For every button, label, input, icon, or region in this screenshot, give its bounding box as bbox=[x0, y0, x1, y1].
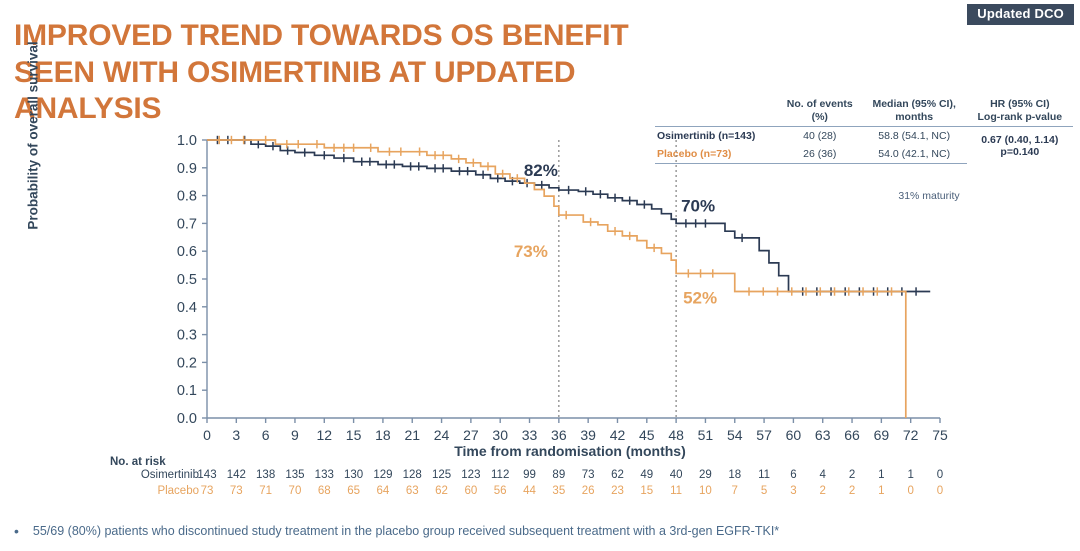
risk-value: 1 bbox=[898, 469, 924, 481]
risk-value: 15 bbox=[634, 485, 660, 497]
risk-value: 112 bbox=[487, 469, 513, 481]
risk-value: 11 bbox=[751, 469, 777, 481]
x-tick-label: 69 bbox=[874, 427, 890, 443]
risk-value: 64 bbox=[370, 485, 396, 497]
risk-value: 1 bbox=[868, 469, 894, 481]
x-tick-label: 48 bbox=[668, 427, 684, 443]
stats-header-events-line1: No. of events bbox=[780, 98, 860, 111]
risk-value: 35 bbox=[546, 485, 572, 497]
risk-value: 2 bbox=[839, 469, 865, 481]
y-tick-label: 0.5 bbox=[177, 272, 197, 288]
chart-annotation: 73% bbox=[514, 242, 548, 261]
risk-value: 73 bbox=[223, 485, 249, 497]
risk-table-title: No. at risk bbox=[110, 456, 166, 468]
x-tick-label: 24 bbox=[434, 427, 450, 443]
risk-value: 128 bbox=[399, 469, 425, 481]
risk-value: 7 bbox=[722, 485, 748, 497]
y-tick-label: 0.0 bbox=[177, 411, 197, 427]
y-tick-label: 0.7 bbox=[177, 216, 197, 232]
chart-annotation: 82% bbox=[524, 161, 558, 180]
risk-value: 143 bbox=[194, 469, 220, 481]
x-tick-label: 75 bbox=[932, 427, 948, 443]
footnote: • 55/69 (80%) patients who discontinued … bbox=[10, 524, 1070, 539]
x-tick-label: 72 bbox=[903, 427, 919, 443]
footnote-text: 55/69 (80%) patients who discontinued st… bbox=[33, 524, 779, 539]
x-tick-label: 3 bbox=[232, 427, 240, 443]
risk-value: 23 bbox=[604, 485, 630, 497]
chart-svg: 0.00.10.20.30.40.50.60.70.80.91.00369121… bbox=[0, 118, 1000, 458]
y-tick-label: 0.6 bbox=[177, 244, 197, 260]
risk-value: 40 bbox=[663, 469, 689, 481]
risk-value: 5 bbox=[751, 485, 777, 497]
updated-dco-badge: Updated DCO bbox=[967, 4, 1074, 25]
x-tick-label: 33 bbox=[522, 427, 538, 443]
risk-row-osimertinib: Osimertinib14314213813513313012912812512… bbox=[90, 469, 970, 484]
x-tick-label: 0 bbox=[203, 427, 211, 443]
risk-value: 44 bbox=[517, 485, 543, 497]
x-tick-label: 6 bbox=[262, 427, 270, 443]
x-tick-label: 27 bbox=[463, 427, 479, 443]
risk-value: 1 bbox=[868, 485, 894, 497]
x-tick-label: 54 bbox=[727, 427, 743, 443]
risk-value: 2 bbox=[810, 485, 836, 497]
risk-row-label: Placebo bbox=[157, 485, 199, 497]
series-line-placebo bbox=[207, 140, 906, 418]
risk-value: 135 bbox=[282, 469, 308, 481]
risk-value: 73 bbox=[575, 469, 601, 481]
risk-value: 130 bbox=[341, 469, 367, 481]
risk-value: 56 bbox=[487, 485, 513, 497]
x-axis-title: Time from randomisation (months) bbox=[190, 443, 950, 459]
risk-value: 71 bbox=[253, 485, 279, 497]
risk-value: 123 bbox=[458, 469, 484, 481]
risk-value: 0 bbox=[898, 485, 924, 497]
y-axis-title: Probability of overall survival bbox=[26, 11, 41, 261]
page-title: IMPROVED TREND TOWARDS OS BENEFIT SEEN W… bbox=[14, 18, 714, 128]
x-tick-label: 18 bbox=[375, 427, 391, 443]
risk-value: 29 bbox=[692, 469, 718, 481]
risk-value: 10 bbox=[692, 485, 718, 497]
y-tick-label: 0.3 bbox=[177, 328, 197, 344]
x-tick-label: 66 bbox=[844, 427, 860, 443]
y-tick-label: 0.2 bbox=[177, 355, 197, 371]
y-tick-label: 0.9 bbox=[177, 161, 197, 177]
risk-value: 0 bbox=[927, 469, 953, 481]
risk-value: 0 bbox=[927, 485, 953, 497]
x-tick-label: 42 bbox=[610, 427, 626, 443]
x-tick-label: 63 bbox=[815, 427, 831, 443]
x-tick-label: 45 bbox=[639, 427, 655, 443]
risk-row-label: Osimertinib bbox=[141, 469, 199, 481]
risk-value: 11 bbox=[663, 485, 689, 497]
x-tick-label: 51 bbox=[698, 427, 714, 443]
risk-value: 60 bbox=[458, 485, 484, 497]
y-tick-label: 0.4 bbox=[177, 300, 197, 316]
risk-value: 129 bbox=[370, 469, 396, 481]
risk-value: 125 bbox=[429, 469, 455, 481]
risk-value: 142 bbox=[223, 469, 249, 481]
risk-value: 6 bbox=[780, 469, 806, 481]
bullet-icon: • bbox=[14, 524, 19, 538]
risk-value: 49 bbox=[634, 469, 660, 481]
x-tick-label: 30 bbox=[492, 427, 508, 443]
x-tick-label: 15 bbox=[346, 427, 362, 443]
x-tick-label: 60 bbox=[786, 427, 802, 443]
risk-value: 68 bbox=[311, 485, 337, 497]
risk-row-placebo: Placebo737371706865646362605644352623151… bbox=[90, 485, 970, 500]
risk-value: 62 bbox=[604, 469, 630, 481]
risk-value: 63 bbox=[399, 485, 425, 497]
x-tick-label: 21 bbox=[404, 427, 420, 443]
stats-header-median-line1: Median (95% CI), bbox=[864, 98, 965, 111]
x-tick-label: 12 bbox=[316, 427, 332, 443]
risk-value: 26 bbox=[575, 485, 601, 497]
chart-annotation: 70% bbox=[681, 196, 715, 215]
risk-value: 62 bbox=[429, 485, 455, 497]
chart-annotation: 52% bbox=[683, 288, 717, 307]
stats-header-hr-line1: HR (95% CI) bbox=[969, 98, 1071, 111]
kaplan-meier-chart: 0.00.10.20.30.40.50.60.70.80.91.00369121… bbox=[0, 118, 1000, 458]
risk-value: 4 bbox=[810, 469, 836, 481]
risk-value: 99 bbox=[517, 469, 543, 481]
risk-value: 89 bbox=[546, 469, 572, 481]
risk-value: 70 bbox=[282, 485, 308, 497]
y-tick-label: 0.1 bbox=[177, 383, 197, 399]
risk-value: 3 bbox=[780, 485, 806, 497]
x-tick-label: 57 bbox=[756, 427, 772, 443]
risk-value: 2 bbox=[839, 485, 865, 497]
dco-badge-label: Updated DCO bbox=[977, 6, 1064, 21]
y-tick-label: 0.8 bbox=[177, 189, 197, 205]
x-tick-label: 39 bbox=[580, 427, 596, 443]
risk-value: 73 bbox=[194, 485, 220, 497]
risk-value: 18 bbox=[722, 469, 748, 481]
risk-value: 65 bbox=[341, 485, 367, 497]
x-tick-label: 36 bbox=[551, 427, 567, 443]
x-tick-label: 9 bbox=[291, 427, 299, 443]
risk-value: 133 bbox=[311, 469, 337, 481]
risk-value: 138 bbox=[253, 469, 279, 481]
y-tick-label: 1.0 bbox=[177, 133, 197, 149]
